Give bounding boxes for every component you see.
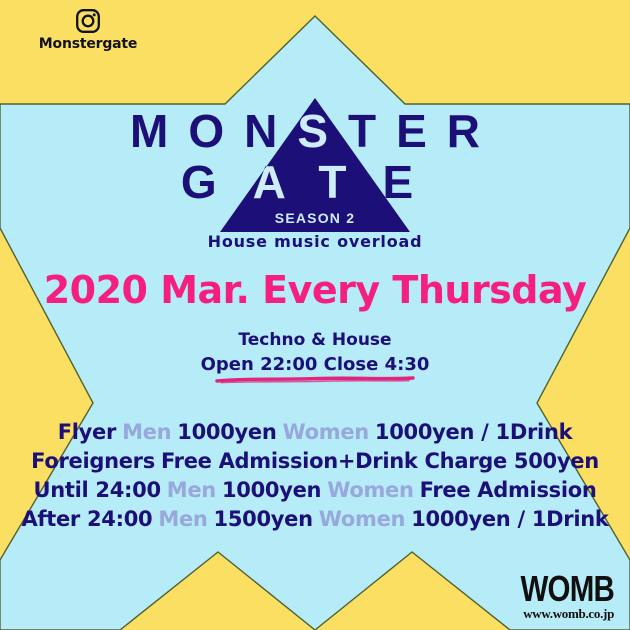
flyer-canvas: Monstergate MONSTER MONSTER <box>0 0 630 630</box>
price-value-label: After 24:00 <box>21 507 152 531</box>
price-audience-label: Women <box>319 507 405 531</box>
price-value-label: Free Admission+Drink Charge 500yen <box>161 449 599 473</box>
genre-label: Techno & House <box>0 330 630 350</box>
logo-season-label: SEASON 2 <box>275 210 355 226</box>
price-audience-label: Women <box>327 478 413 502</box>
pink-underline-wrap <box>0 372 630 386</box>
price-value-label: 1000yen / 1Drink <box>411 507 608 531</box>
price-audience-label: Women <box>283 420 369 444</box>
price-value-label: 1000yen <box>222 478 321 502</box>
instagram-handle-label: Monstergate <box>28 36 148 52</box>
price-audience-label: Men <box>167 478 216 502</box>
venue-name: WOMB <box>521 572 614 606</box>
instagram-handle-block[interactable]: Monstergate <box>28 8 148 52</box>
price-value-label: Flyer <box>58 420 116 444</box>
price-row: Until 24:00 Men 1000yen Women Free Admis… <box>0 476 630 505</box>
price-value-label: Until 24:00 <box>33 478 160 502</box>
price-value-label: Free Admission <box>420 478 597 502</box>
event-date-headline: 2020 Mar. Every Thursday <box>0 268 630 312</box>
pink-underline-icon <box>215 375 415 385</box>
price-list: Flyer Men 1000yen Women 1000yen / 1Drink… <box>0 418 630 534</box>
price-row: Foreigners Free Admission+Drink Charge 5… <box>0 447 630 476</box>
price-row: Flyer Men 1000yen Women 1000yen / 1Drink <box>0 418 630 447</box>
venue-logo-block[interactable]: WOMB www.womb.co.jp <box>500 572 614 622</box>
instagram-icon[interactable] <box>75 8 101 34</box>
price-row: After 24:00 Men 1500yen Women 1000yen / … <box>0 505 630 534</box>
price-value-label: 1000yen / 1Drink <box>375 420 572 444</box>
logo-graphic: MONSTER MONSTER GATE GATE SEASON 2 House… <box>0 84 630 254</box>
logo-lockup: MONSTER MONSTER GATE GATE SEASON 2 House… <box>0 84 630 254</box>
logo-tagline: House music overload <box>208 232 423 251</box>
price-audience-label: Men <box>158 507 207 531</box>
price-audience-label: Men <box>122 420 171 444</box>
price-value-label: 1000yen <box>177 420 276 444</box>
price-value-label: Foreigners <box>31 449 155 473</box>
price-value-label: 1500yen <box>214 507 313 531</box>
